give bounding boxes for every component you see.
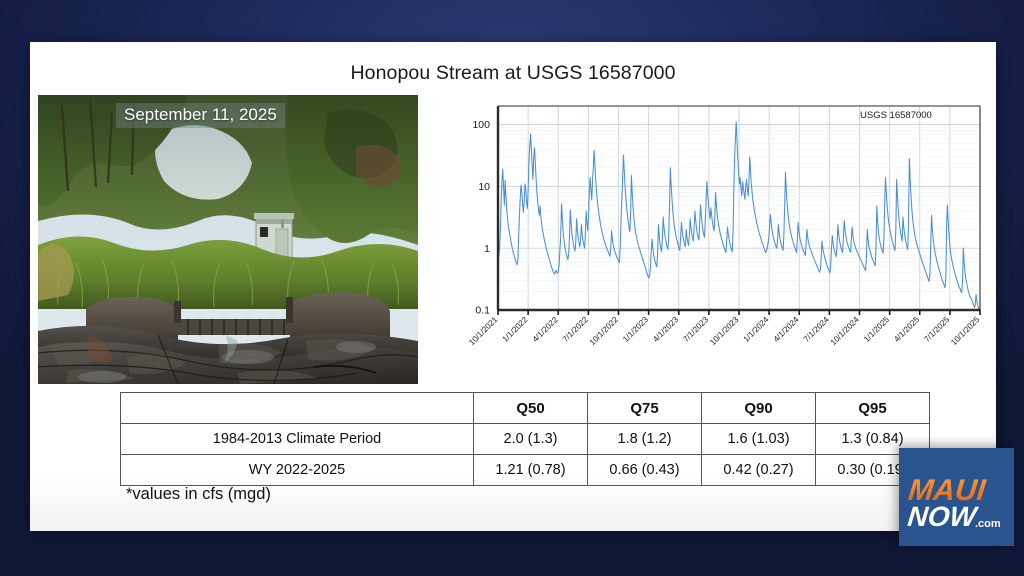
cell-wy-q75: 0.66 (0.43)	[588, 455, 702, 486]
logo-com-text: .com	[975, 518, 1001, 530]
table-header-row: Q50 Q75 Q90 Q95	[121, 393, 930, 424]
streamflow-hydrograph-chart: 0.1110100 10/1/20211/1/20224/1/20227/1/2…	[434, 95, 988, 384]
chart-canvas: 0.1110100 10/1/20211/1/20224/1/20227/1/2…	[434, 95, 988, 384]
table-row: 1984-2013 Climate Period 2.0 (1.3) 1.8 (…	[121, 424, 930, 455]
flow-duration-table: Q50 Q75 Q90 Q95 1984-2013 Climate Period…	[120, 392, 930, 486]
cell-climate-q90: 1.6 (1.03)	[702, 424, 816, 455]
photo-artwork	[38, 95, 418, 384]
maui-now-logo[interactable]: MAUI NOW .com	[899, 448, 1014, 546]
table-header-q95: Q95	[816, 393, 930, 424]
slide-backdrop: Honopou Stream at USGS 16587000	[0, 0, 1024, 576]
maui-now-logo-artwork: MAUI NOW .com	[899, 448, 1014, 546]
table-row: WY 2022-2025 1.21 (0.78) 0.66 (0.43) 0.4…	[121, 455, 930, 486]
y-tick-label: 10	[478, 181, 490, 193]
photo-date-overlay: September 11, 2025	[116, 103, 285, 128]
table-header-q75: Q75	[588, 393, 702, 424]
logo-now-text: NOW	[906, 501, 980, 532]
page-title: Honopou Stream at USGS 16587000	[30, 62, 996, 85]
table-header-q90: Q90	[702, 393, 816, 424]
table-header-q50: Q50	[474, 393, 588, 424]
cell-wy-q50: 1.21 (0.78)	[474, 455, 588, 486]
cell-climate-q50: 2.0 (1.3)	[474, 424, 588, 455]
chart-legend-label: USGS 16587000	[860, 110, 932, 121]
row-label-wy-2022-2025: WY 2022-2025	[121, 455, 474, 486]
row-label-climate-period: 1984-2013 Climate Period	[121, 424, 474, 455]
y-tick-label: 0.1	[475, 305, 490, 317]
slide-card: Honopou Stream at USGS 16587000	[30, 42, 996, 531]
table-corner-cell	[121, 393, 474, 424]
y-tick-label: 1	[484, 243, 490, 255]
y-tick-label: 100	[472, 119, 490, 131]
cell-climate-q75: 1.8 (1.2)	[588, 424, 702, 455]
honopou-stream-gage-photo: September 11, 2025	[38, 95, 418, 384]
cell-wy-q90: 0.42 (0.27)	[702, 455, 816, 486]
table-footnote: *values in cfs (mgd)	[126, 485, 271, 504]
